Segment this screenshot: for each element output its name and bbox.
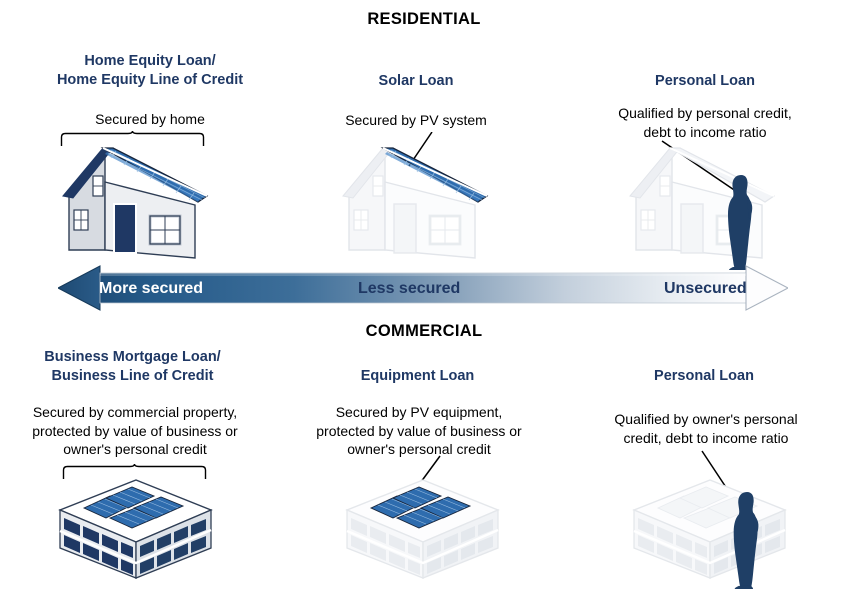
commercial-col3-description: Qualified by owner's personal credit, de…: [570, 410, 842, 447]
person-silhouette-commercial-icon: [728, 490, 770, 590]
residential-col2-description: Secured by PV system: [296, 111, 536, 130]
house-with-solar-roof-colored-icon: [55, 140, 220, 265]
commercial-col1-description: Secured by commercial property, protecte…: [0, 403, 270, 459]
residential-col2-heading: Solar Loan: [296, 72, 536, 91]
residential-col1-heading: Home Equity Loan/ Home Equity Line of Cr…: [0, 52, 300, 90]
section-title-commercial: COMMERCIAL: [0, 322, 848, 341]
commercial-building-faded-with-person-icon: [622, 478, 797, 588]
house-with-solar-roof-faded-icon: [335, 140, 500, 265]
person-silhouette-residential-icon: [723, 173, 763, 271]
spectrum-label-less-secured: Less secured: [358, 280, 460, 298]
infographic-canvas: RESIDENTIAL Home Equity Loan/ Home Equit…: [0, 0, 848, 594]
spectrum-label-more-secured: More secured: [99, 280, 203, 298]
spectrum-label-unsecured: Unsecured: [664, 280, 747, 298]
section-title-residential: RESIDENTIAL: [0, 10, 848, 29]
commercial-building-solar-colored-icon: [48, 478, 223, 588]
commercial-col2-heading: Equipment Loan: [295, 367, 540, 386]
commercial-col3-heading: Personal Loan: [570, 367, 838, 386]
residential-col3-description: Qualified by personal credit, debt to in…: [570, 104, 840, 141]
commercial-col2-description: Secured by PV equipment, protected by va…: [288, 403, 550, 459]
residential-col3-heading: Personal Loan: [570, 72, 840, 91]
commercial-building-solar-faded-icon: [335, 478, 510, 588]
commercial-col1-heading: Business Mortgage Loan/ Business Line of…: [0, 348, 265, 386]
residential-col1-description: Secured by home: [0, 110, 300, 129]
